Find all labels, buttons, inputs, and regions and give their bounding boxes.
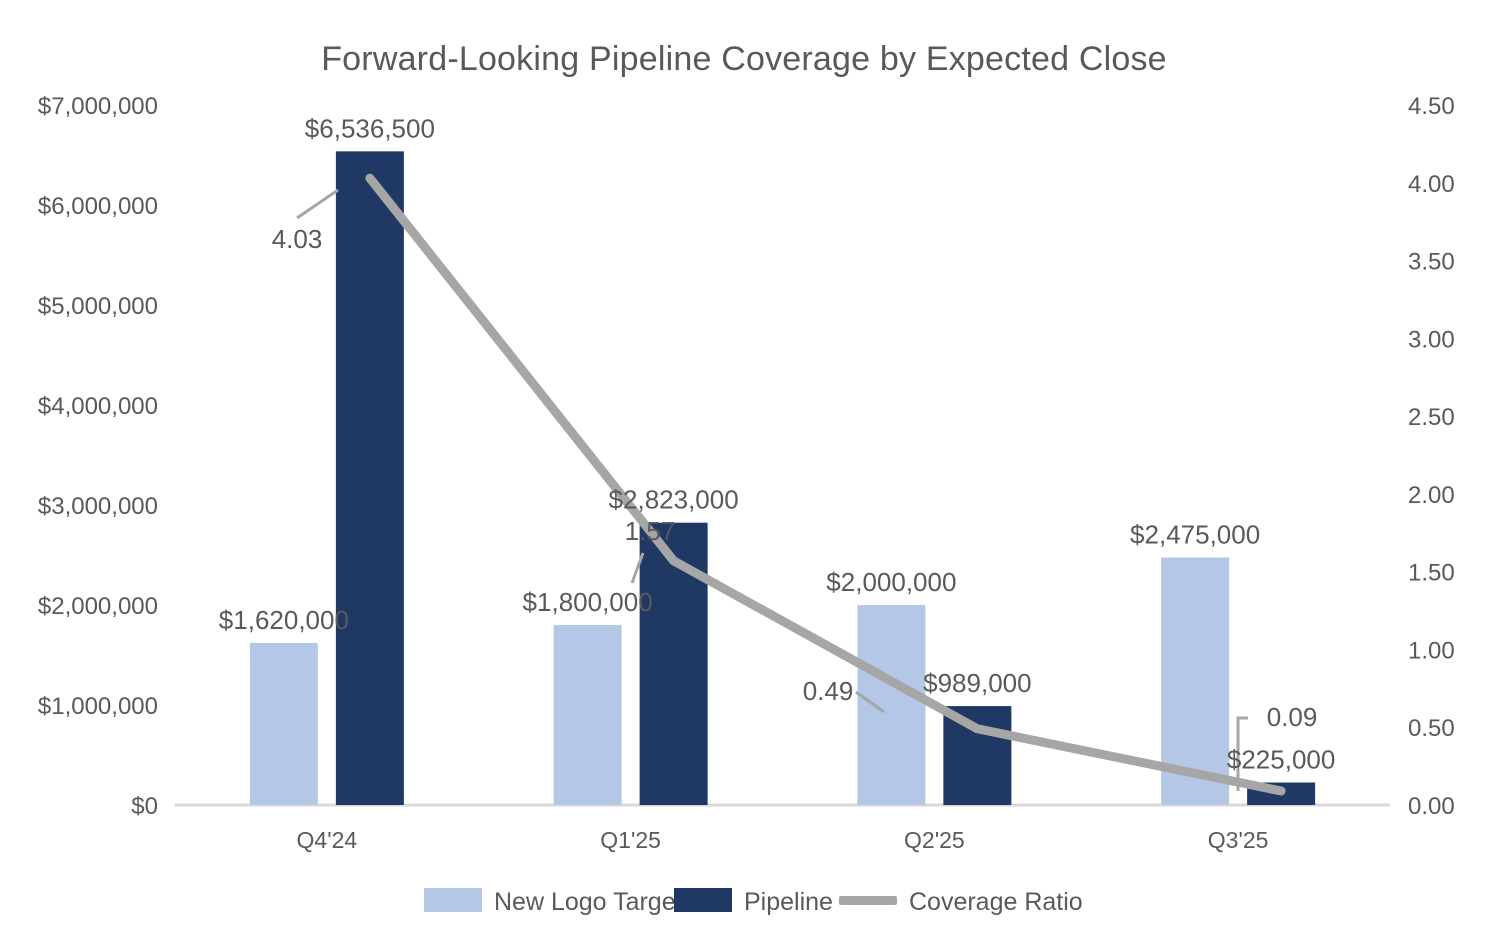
category-label[interactable]: Q4'24 [297,827,358,853]
bar-new-logo-target[interactable] [857,605,925,805]
left-axis-tick-label: $6,000,000 [38,193,158,220]
legend-marker-square [674,888,732,912]
data-label-coverage-ratio: 0.09 [1267,702,1318,732]
data-label-coverage-ratio: 1.57 [625,516,676,546]
legend-item-label[interactable]: Coverage Ratio [909,888,1083,916]
category-label[interactable]: Q1'25 [600,827,661,853]
right-axis-tick-label: 4.50 [1408,93,1455,120]
left-axis-tick-label: $1,000,000 [38,693,158,720]
data-label-pipeline: $225,000 [1227,745,1335,775]
right-axis-tick-label: 3.00 [1408,326,1455,353]
data-label-new-logo-target: $2,000,000 [826,567,956,597]
legend-item-label[interactable]: New Logo Target [494,888,683,916]
data-label-pipeline: $2,823,000 [609,485,739,515]
left-axis-tick-label: $5,000,000 [38,293,158,320]
data-label-new-logo-target: $1,620,000 [219,605,349,635]
right-axis-tick-label: 1.50 [1408,560,1455,587]
right-axis-tick-label: 4.00 [1408,171,1455,198]
category-label[interactable]: Q2'25 [904,827,965,853]
left-axis-tick-label: $2,000,000 [38,593,158,620]
left-axis-tick-label: $4,000,000 [38,393,158,420]
data-label-new-logo-target: $1,800,000 [523,587,653,617]
right-axis-tick-label: 3.50 [1408,249,1455,276]
left-axis-tick-label: $0 [131,793,158,820]
data-label-coverage-ratio: 4.03 [272,224,323,254]
right-axis-tick-label: 2.50 [1408,404,1455,431]
chart-legend: New Logo TargetPipelineCoverage Ratio [424,888,1083,916]
chart-canvas: Forward-Looking Pipeline Coverage by Exp… [0,0,1488,939]
chart-container: Forward-Looking Pipeline Coverage by Exp… [0,0,1488,939]
data-label-coverage-ratio: 0.49 [803,676,854,706]
bar-pipeline[interactable] [336,151,404,805]
category-label[interactable]: Q3'25 [1208,827,1269,853]
bar-new-logo-target[interactable] [554,625,622,805]
bar-pipeline[interactable] [943,706,1011,805]
right-axis-tick-label: 1.00 [1408,637,1455,664]
data-label-pipeline: $6,536,500 [305,113,435,143]
left-axis-tick-label: $3,000,000 [38,493,158,520]
right-axis-tick-label: 2.00 [1408,482,1455,509]
right-axis-tick-label: 0.00 [1408,793,1455,820]
chart-title: Forward-Looking Pipeline Coverage by Exp… [321,40,1167,78]
data-label-pipeline: $989,000 [923,668,1031,698]
legend-item-label[interactable]: Pipeline [744,888,833,916]
legend-marker-line [839,896,897,905]
data-label-new-logo-target: $2,475,000 [1130,520,1260,550]
bar-new-logo-target[interactable] [250,643,318,805]
right-axis-tick-label: 0.50 [1408,715,1455,742]
left-axis-tick-label: $7,000,000 [38,93,158,120]
legend-marker-square [424,888,482,912]
